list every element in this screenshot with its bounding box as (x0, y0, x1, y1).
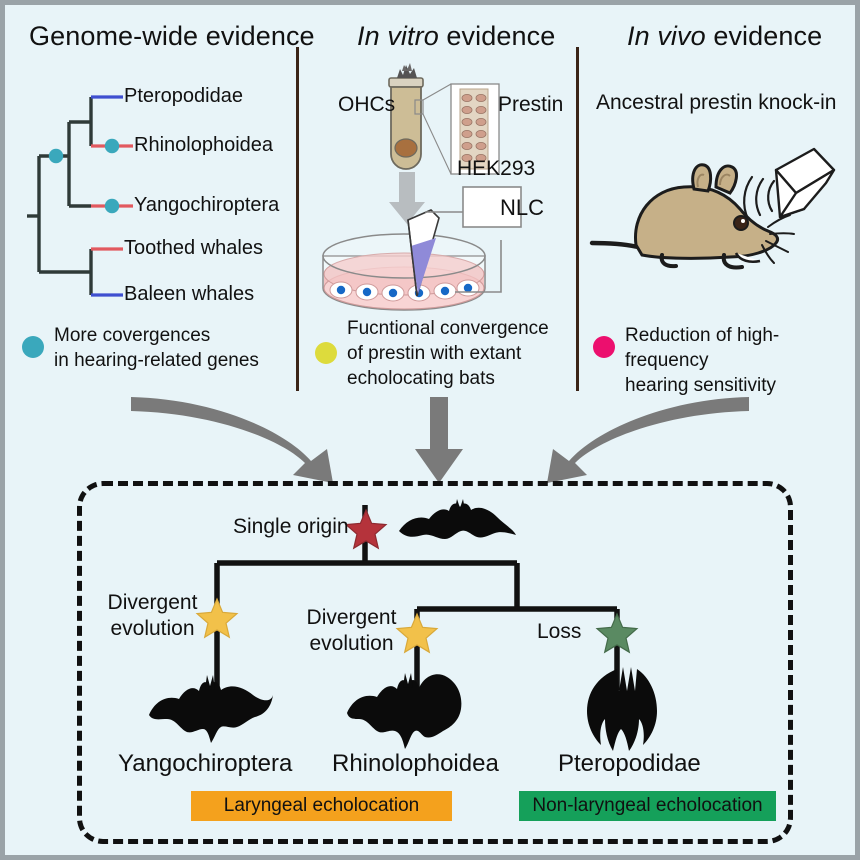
summary-event-label-divergent-evolution-1: Divergent evolution (105, 590, 200, 642)
bat-silhouette-pteropodidae (583, 663, 673, 753)
summary-taxon-label-yangochiroptera: Yangochiroptera (118, 750, 292, 778)
mouse-icon (592, 165, 794, 268)
label-ancestral-prestin-knock-in: Ancestral prestin knock-in (596, 91, 836, 115)
divergent-2-line1: Divergent (304, 605, 399, 631)
panel-title-genome-wide-text: Genome-wide evidence (29, 21, 315, 51)
bat-silhouette-single-origin (397, 499, 517, 551)
flow-arrow-right (547, 397, 749, 483)
panel-title-in-vivo-italic: In vivo (627, 21, 706, 51)
in-vivo-illustration (590, 135, 855, 310)
label-hek293: HEK293 (457, 157, 535, 181)
divergent-1-line1: Divergent (105, 590, 200, 616)
tree-tip-label-baleen-whales: Baleen whales (124, 283, 254, 306)
tree-tip-label-toothed-whales: Toothed whales (124, 237, 263, 260)
tree-tip-label-yangochiroptera: Yangochiroptera (134, 194, 279, 217)
legend-caption-genome-wide-line2: in hearing-related genes (54, 348, 289, 373)
speaker-icon (776, 149, 834, 217)
legend-dot-in-vitro (315, 342, 337, 364)
panel-title-in-vitro-italic: In vitro (357, 21, 439, 51)
bat-silhouette-rhinolophoidea (345, 669, 475, 751)
flow-arrow-left (131, 397, 333, 483)
bat-silhouette-yangochiroptera (145, 673, 275, 751)
flow-arrow-center (415, 397, 463, 483)
legend-dot-genome-wide (22, 336, 44, 358)
panel-title-in-vitro: In vitro evidence (357, 21, 555, 52)
category-label-laryngeal: Laryngeal echolocation (224, 795, 419, 817)
legend-dot-in-vivo (593, 336, 615, 358)
panel-title-in-vivo: In vivo evidence (627, 21, 822, 52)
star-divergent-evolution-1 (196, 597, 238, 639)
tree-tip-marker-yangochiroptera (105, 199, 119, 213)
label-ohcs: OHCs (338, 93, 395, 117)
legend-caption-genome-wide-line1: More covergences (54, 323, 289, 348)
legend-caption-in-vitro-line1: Fucntional convergence (347, 316, 572, 341)
legend-caption-in-vivo-line1: Reduction of high-frequency (625, 323, 855, 373)
panel-title-in-vitro-text: evidence (439, 21, 555, 51)
label-nlc: NLC (500, 195, 544, 221)
tree-node-marker-bats (49, 149, 63, 163)
divergent-1-line2: evolution (105, 616, 200, 642)
category-box-non-laryngeal-echolocation: Non-laryngeal echolocation (519, 791, 776, 821)
sound-waves-icon (744, 177, 774, 219)
summary-taxon-label-rhinolophoidea: Rhinolophoidea (332, 750, 499, 778)
summary-event-label-divergent-evolution-2: Divergent evolution (304, 605, 399, 657)
category-label-non-laryngeal: Non-laryngeal echolocation (532, 795, 762, 817)
summary-event-label-single-origin: Single origin (233, 515, 349, 539)
tree-tip-label-pteropodidae: Pteropodidae (124, 85, 243, 108)
star-divergent-evolution-2 (396, 612, 438, 654)
label-prestin: Prestin (498, 93, 563, 117)
tree-tip-label-rhinolophoidea: Rhinolophoidea (134, 134, 273, 157)
legend-caption-in-vitro-line2: of prestin with extant (347, 341, 572, 366)
culture-dish-icon (323, 210, 485, 310)
tree-tip-marker-rhinolophoidea (105, 139, 119, 153)
phylogenetic-tree (11, 83, 301, 295)
panel-title-in-vivo-text: evidence (706, 21, 822, 51)
figure-root: Genome-wide evidence In vitro evidence I… (0, 0, 860, 860)
panel-divider-right (576, 47, 579, 391)
legend-caption-genome-wide: More covergences in hearing-related gene… (54, 323, 289, 373)
star-loss (596, 612, 638, 654)
star-single-origin (345, 508, 387, 550)
legend-caption-in-vitro: Fucntional convergence of prestin with e… (347, 316, 572, 391)
category-box-laryngeal-echolocation: Laryngeal echolocation (191, 791, 452, 821)
summary-event-label-loss: Loss (537, 620, 581, 644)
flow-arrows (95, 387, 785, 485)
divergent-2-line2: evolution (304, 631, 399, 657)
panel-title-genome-wide: Genome-wide evidence (29, 21, 315, 52)
summary-taxon-label-pteropodidae: Pteropodidae (558, 750, 701, 778)
